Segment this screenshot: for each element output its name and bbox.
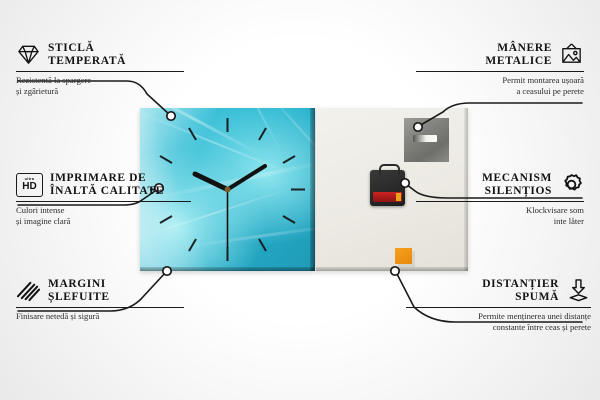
feature-title: DISTANȚIER SPUMĂ — [482, 278, 559, 303]
ultra-hd-icon: ultra HD — [16, 173, 43, 197]
feature-high-quality-print: ultra HD IMPRIMARE DE ÎNALTĂ CALITATE Cu… — [16, 172, 191, 226]
feature-header: MARGINI ȘLEFUITE — [16, 278, 184, 303]
feature-metal-handles: MÂNERE METALICE Permit montarea ușoară a… — [416, 42, 584, 96]
feature-silent-mechanism: MECANISM SILENȚIOS Klockvisare som inte … — [416, 172, 584, 226]
infographic-canvas: STICLĂ TEMPERATĂ Rezistentă la spargere … — [0, 0, 600, 400]
feature-polished-edges: MARGINI ȘLEFUITE Finisare netedă și sigu… — [16, 278, 184, 322]
feature-title: IMPRIMARE DE ÎNALTĂ CALITATE — [50, 172, 164, 197]
feature-title: STICLĂ TEMPERATĂ — [48, 42, 126, 67]
diagonal-stripes-icon — [16, 278, 41, 303]
divider — [16, 201, 191, 202]
feature-title: MARGINI ȘLEFUITE — [48, 278, 110, 303]
connector-dot-tempered-glass — [167, 112, 175, 120]
divider — [416, 201, 584, 202]
feature-subtitle: Rezistentă la spargere și zgârietură — [16, 75, 184, 96]
feature-subtitle: Permit montarea ușoară a ceasului pe per… — [416, 75, 584, 96]
feature-title: MÂNERE METALICE — [485, 42, 552, 67]
connector-dot-spacer — [391, 267, 399, 275]
feature-header: DISTANȚIER SPUMĂ — [406, 278, 591, 303]
feature-header: STICLĂ TEMPERATĂ — [16, 42, 184, 67]
feature-subtitle: Permite menținerea unei distanțe constan… — [406, 311, 591, 332]
connector-dot-edges — [163, 267, 171, 275]
arrow-down-layers-icon — [566, 278, 591, 303]
divider — [406, 307, 591, 308]
gear-icon — [559, 172, 584, 197]
hanging-picture-icon — [559, 42, 584, 67]
connector-dot-mechanism — [401, 179, 409, 187]
feature-title: MECANISM SILENȚIOS — [482, 172, 552, 197]
feature-subtitle: Finisare netedă și sigură — [16, 311, 184, 322]
feature-header: ultra HD IMPRIMARE DE ÎNALTĂ CALITATE — [16, 172, 191, 197]
connector-dot-handles — [414, 123, 422, 131]
divider — [16, 71, 184, 72]
divider — [16, 307, 184, 308]
diamond-icon — [16, 42, 41, 67]
feature-header: MÂNERE METALICE — [416, 42, 584, 67]
feature-header: MECANISM SILENȚIOS — [416, 172, 584, 197]
feature-subtitle: Culori intense și imagine clară — [16, 205, 191, 226]
feature-foam-spacer: DISTANȚIER SPUMĂ Permite menținerea unei… — [406, 278, 591, 332]
feature-tempered-glass: STICLĂ TEMPERATĂ Rezistentă la spargere … — [16, 42, 184, 96]
feature-subtitle: Klockvisare som inte låter — [416, 205, 584, 226]
divider — [416, 71, 584, 72]
